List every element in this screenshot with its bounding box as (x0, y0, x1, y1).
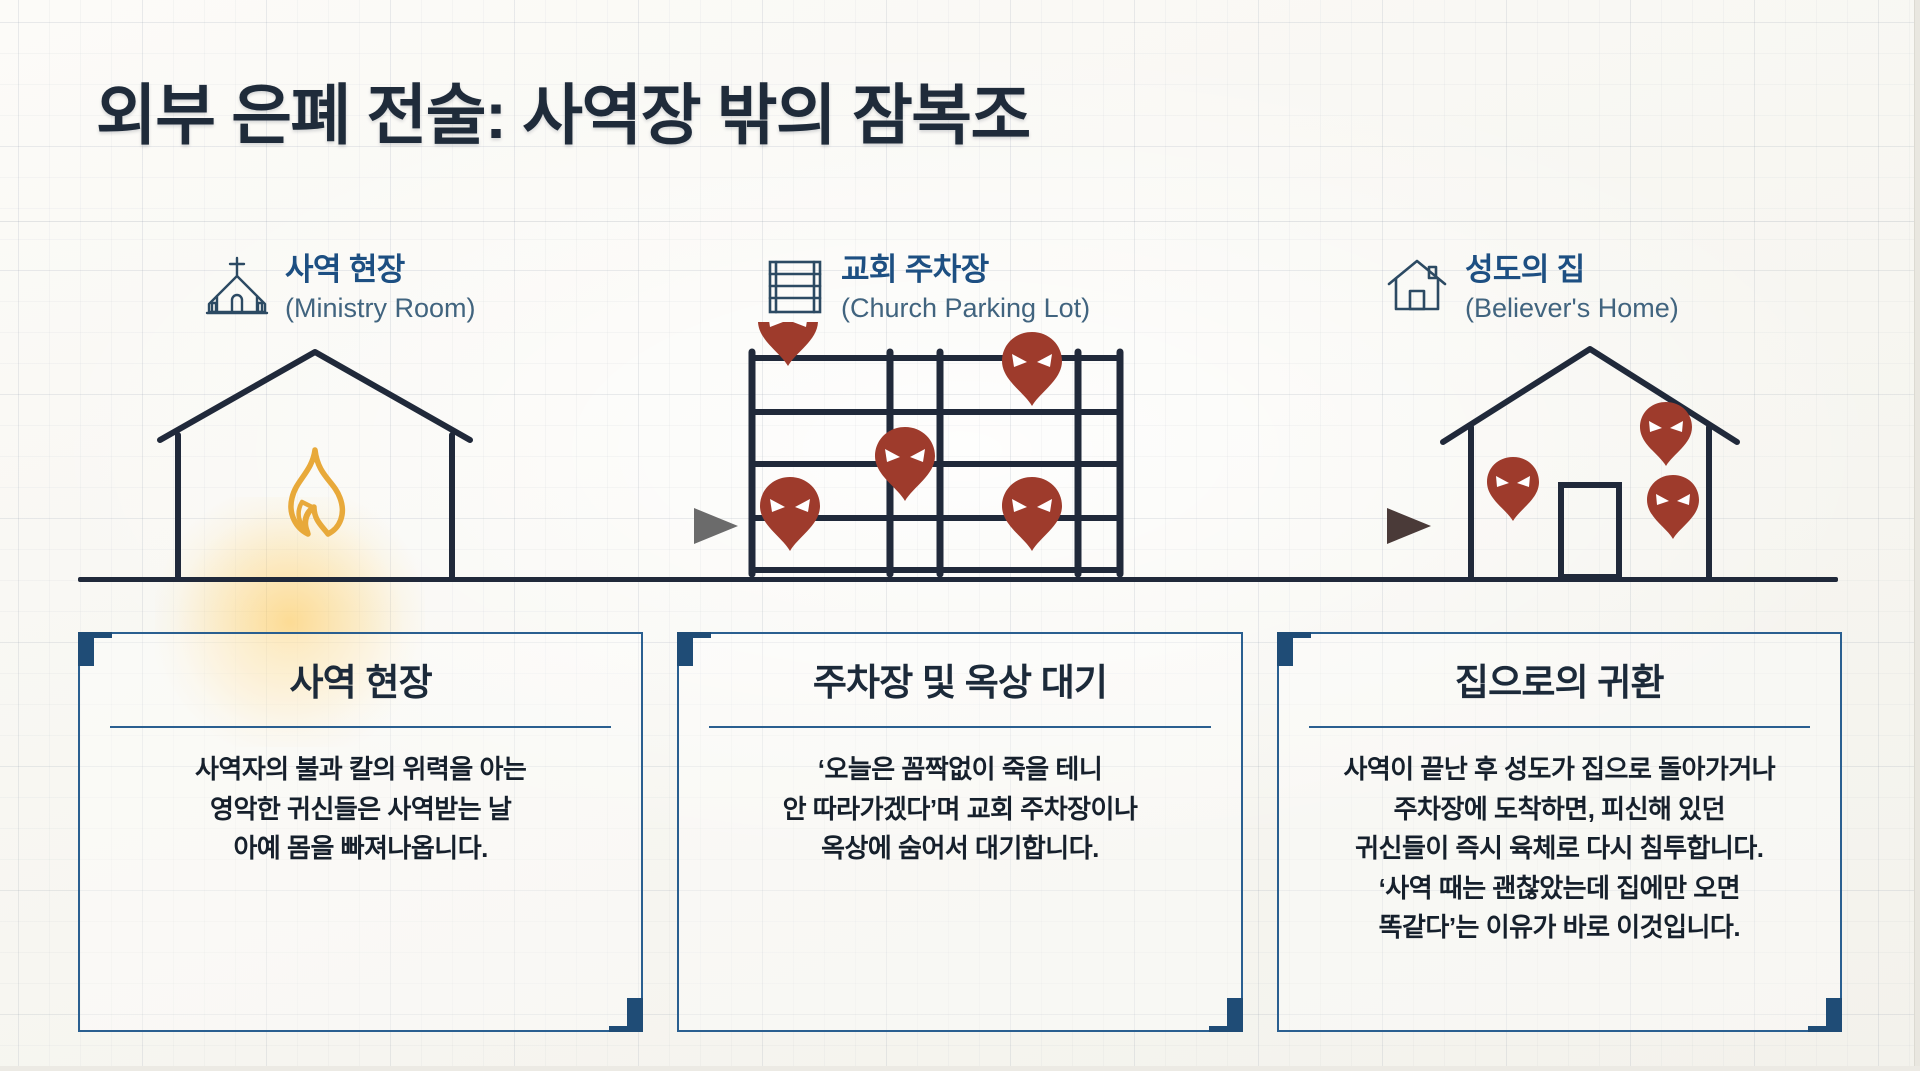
card-parking: 주차장 및 옥상 대기 ‘오늘은 꼼짝없이 죽을 테니 안 따라가겠다’며 교회… (677, 632, 1242, 1032)
card-divider (709, 726, 1210, 728)
stage-label-ko: 교회 주차장 (841, 252, 1090, 289)
demon-pin-icon (875, 427, 935, 501)
card-body-line: 안 따라가겠다’며 교회 주차장이나 (783, 790, 1138, 830)
arrow-ministry-to-parking (452, 504, 742, 553)
stage-label-ko: 사역 현장 (285, 252, 476, 289)
stage-label-ko: 성도의 집 (1465, 252, 1679, 289)
arrow-parking-to-home (1175, 504, 1435, 553)
card-body-line: 영악한 귀신들은 사역받는 날 (195, 790, 526, 830)
infographic-page: 외부 은폐 전술: 사역장 밖의 잠복조 사역 현장 (0, 0, 1920, 1071)
card-title: 사역 현장 (289, 660, 431, 706)
stage-header-parking: 교회 주차장 (Church Parking Lot) (765, 252, 1090, 324)
card-divider (1309, 726, 1810, 728)
card-title: 집으로의 귀환 (1455, 660, 1664, 706)
scene-believers-home (1425, 327, 1755, 587)
card-body: 사역이 끝난 후 성도가 집으로 돌아가거나 주차장에 도착하면, 피신해 있던… (1343, 750, 1775, 948)
house-icon (1385, 256, 1449, 319)
stage-header-ministry: 사역 현장 (Ministry Room) (205, 252, 476, 324)
bottom-edge-strip (0, 1066, 1920, 1071)
demon-pin-icon (760, 477, 820, 551)
stage-header-text: 성도의 집 (Believer's Home) (1465, 252, 1679, 324)
card-body-line: ‘사역 때는 괜찮았는데 집에만 오면 (1343, 869, 1775, 909)
card-body-line: 사역이 끝난 후 성도가 집으로 돌아가거나 (1343, 750, 1775, 790)
corner-bracket-tl-h (78, 632, 112, 638)
parking-structure-icon (765, 256, 825, 323)
card-home: 집으로의 귀환 사역이 끝난 후 성도가 집으로 돌아가거나 주차장에 도착하면… (1277, 632, 1842, 1032)
card-title: 주차장 및 옥상 대기 (813, 660, 1107, 706)
corner-bracket-tl-h (677, 632, 711, 638)
stage-header-text: 사역 현장 (Ministry Room) (285, 252, 476, 324)
stage-header-home: 성도의 집 (Believer's Home) (1385, 252, 1679, 324)
right-edge-strip (1914, 0, 1920, 1071)
card-body-line: 귀신들이 즉시 육체로 다시 침투합니다. (1343, 829, 1775, 869)
scene-parking-structure (740, 322, 1140, 587)
explanation-cards-row: 사역 현장 사역자의 불과 칼의 위력을 아는 영악한 귀신들은 사역받는 날 … (0, 632, 1920, 1032)
demon-pin-icon (1640, 402, 1692, 466)
card-body-line: 주차장에 도착하면, 피신해 있던 (1343, 790, 1775, 830)
corner-bracket-tl-h (1277, 632, 1311, 638)
card-body-line: 옥상에 숨어서 대기합니다. (783, 829, 1138, 869)
stage-label-en: (Ministry Room) (285, 292, 476, 324)
flame-icon (291, 450, 342, 534)
scene-ministry-building (150, 332, 480, 587)
stage-header-text: 교회 주차장 (Church Parking Lot) (841, 252, 1090, 324)
stage-label-en: (Church Parking Lot) (841, 292, 1090, 324)
card-ministry: 사역 현장 사역자의 불과 칼의 위력을 아는 영악한 귀신들은 사역받는 날 … (78, 632, 643, 1032)
card-body-line: 똑같다’는 이유가 바로 이것입니다. (1343, 908, 1775, 948)
page-title: 외부 은폐 전술: 사역장 밖의 잠복조 (96, 62, 1030, 158)
card-divider (110, 726, 611, 728)
demon-pin-icon (1002, 332, 1062, 406)
corner-bracket-br-h (1209, 1026, 1243, 1032)
card-body: ‘오늘은 꼼짝없이 죽을 테니 안 따라가겠다’며 교회 주차장이나 옥상에 숨… (783, 750, 1138, 869)
card-body-line: ‘오늘은 꼼짝없이 죽을 테니 (783, 750, 1138, 790)
card-body-line: 아예 몸을 빠져나옵니다. (195, 829, 526, 869)
card-body-line: 사역자의 불과 칼의 위력을 아는 (195, 750, 526, 790)
title-band: 외부 은폐 전술: 사역장 밖의 잠복조 (0, 0, 1920, 222)
demon-pin-icon (1647, 475, 1699, 539)
corner-bracket-br-h (609, 1026, 643, 1032)
church-icon (205, 256, 269, 323)
card-body: 사역자의 불과 칼의 위력을 아는 영악한 귀신들은 사역받는 날 아예 몸을 … (195, 750, 526, 869)
illustration-stage: 사역 현장 (Ministry Room) 교회 주차장 (Church Par… (0, 222, 1920, 597)
stage-label-en: (Believer's Home) (1465, 292, 1679, 324)
corner-bracket-br-h (1808, 1026, 1842, 1032)
demon-pin-icon (1002, 477, 1062, 551)
ground-baseline (78, 577, 1838, 582)
demon-pin-icon (1487, 457, 1539, 521)
